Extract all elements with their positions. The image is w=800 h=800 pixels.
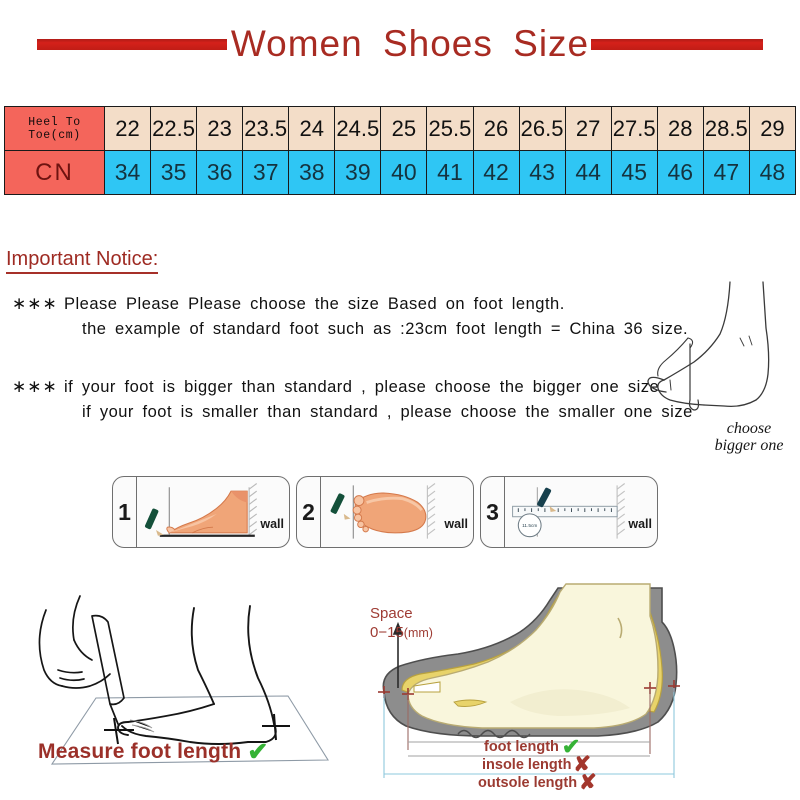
caption-line-2: bigger one — [694, 437, 800, 454]
space-gap-label: Space 0−15(mm) — [370, 604, 433, 643]
table-row: Heel To Toe(cm) 22 22.5 23 23.5 24 24.5 … — [5, 107, 796, 151]
space-value: 0−15 — [370, 624, 404, 641]
table-cell: 48 — [749, 151, 795, 195]
step-number: 3 — [481, 477, 505, 547]
step-illustration-top-foot: wall — [321, 477, 473, 547]
step-number: 2 — [297, 477, 321, 547]
foot-side-view-sketch-icon — [644, 276, 796, 426]
measurement-steps: 1 — [112, 476, 658, 548]
title-rule-right — [591, 39, 763, 50]
shoe-length-labels: foot length ✔ insole length ✘ outsole le… — [478, 738, 778, 792]
table-cell: 25.5 — [427, 107, 473, 151]
step-box-2: 2 — [296, 476, 474, 548]
length-label-row: insole length ✘ — [478, 756, 778, 774]
notice-text: if your foot is smaller than standard , … — [64, 400, 693, 425]
notice-block-1: ∗∗∗ Please Please Please choose the size… — [12, 292, 688, 342]
table-cell: 25 — [381, 107, 427, 151]
length-label-text: insole length — [482, 757, 571, 773]
table-cell: 23.5 — [243, 107, 289, 151]
notice-row: ∗∗∗ if your foot is bigger than standard… — [12, 375, 693, 400]
size-chart-table: Heel To Toe(cm) 22 22.5 23 23.5 24 24.5 … — [4, 106, 796, 195]
space-unit: (mm) — [404, 626, 433, 640]
table-cell: 28 — [657, 107, 703, 151]
space-label-line-2: 0−15(mm) — [370, 623, 433, 643]
check-icon: ✔ — [247, 742, 268, 762]
caption-line-1: choose — [694, 420, 800, 437]
table-cell: 37 — [243, 151, 289, 195]
wall-label: wall — [444, 517, 468, 531]
table-cell: 36 — [197, 151, 243, 195]
step-box-1: 1 — [112, 476, 290, 548]
wall-label: wall — [260, 517, 284, 531]
cross-icon: ✘ — [579, 775, 597, 791]
page-title-bar: Women Shoes Size — [0, 18, 800, 70]
table-cell: 35 — [151, 151, 197, 195]
measure-foot-length-caption: Measure foot length ✔ — [38, 740, 268, 764]
magnifier-reading: 11.5cm — [522, 523, 537, 529]
table-cell: 44 — [565, 151, 611, 195]
table-cell: 46 — [657, 151, 703, 195]
asterisk-marker-icon: ∗∗∗ — [12, 375, 64, 399]
length-label-text: outsole length — [478, 775, 577, 791]
step-box-3: 3 — [480, 476, 658, 548]
table-cell: 22.5 — [151, 107, 197, 151]
notice-block-2: ∗∗∗ if your foot is bigger than standard… — [12, 375, 693, 425]
choose-bigger-one-caption: choose bigger one — [694, 420, 800, 454]
notice-row: if your foot is smaller than standard , … — [12, 400, 693, 425]
table-cell: 41 — [427, 151, 473, 195]
table-cell: 47 — [703, 151, 749, 195]
wall-label: wall — [628, 517, 652, 531]
table-cell: 26.5 — [519, 107, 565, 151]
table-cell: 45 — [611, 151, 657, 195]
asterisk-marker-icon: ∗∗∗ — [12, 292, 64, 316]
length-label-row: foot length ✔ — [478, 738, 778, 756]
table-cell: 28.5 — [703, 107, 749, 151]
table-cell: 23 — [197, 107, 243, 151]
table-cell: 27 — [565, 107, 611, 151]
important-notice-heading: Important Notice: — [6, 248, 158, 274]
step-illustration-ruler: 11.5cm wall — [505, 477, 657, 547]
table-cell: 34 — [105, 151, 151, 195]
step-number: 1 — [113, 477, 137, 547]
table-cell: 26 — [473, 107, 519, 151]
table-cell: 38 — [289, 151, 335, 195]
notice-text: Please Please Please choose the size Bas… — [64, 292, 565, 317]
measure-caption-text: Measure foot length — [38, 740, 241, 764]
page-title: Women Shoes Size — [231, 25, 589, 63]
notice-text: if your foot is bigger than standard , p… — [64, 375, 659, 400]
table-cell: 24.5 — [335, 107, 381, 151]
title-rule-left — [37, 39, 227, 50]
step-illustration-side-foot: wall — [137, 477, 289, 547]
table-row: CN 34 35 36 37 38 39 40 41 42 43 44 45 4… — [5, 151, 796, 195]
table-cell: 27.5 — [611, 107, 657, 151]
table-cell: 42 — [473, 151, 519, 195]
row-header-cn: CN — [5, 151, 105, 195]
table-cell: 39 — [335, 151, 381, 195]
space-label-line-1: Space — [370, 604, 433, 623]
row-header-heel-to-toe: Heel To Toe(cm) — [5, 107, 105, 151]
table-cell: 24 — [289, 107, 335, 151]
length-label-text: foot length — [484, 739, 559, 755]
table-cell: 29 — [749, 107, 795, 151]
notice-row: ∗∗∗ Please Please Please choose the size… — [12, 292, 688, 317]
notice-row: the example of standard foot such as :23… — [12, 317, 688, 342]
notice-text: the example of standard foot such as :23… — [64, 317, 688, 342]
table-cell: 40 — [381, 151, 427, 195]
table-cell: 22 — [105, 107, 151, 151]
length-label-row: outsole length ✘ — [478, 774, 778, 792]
table-cell: 43 — [519, 151, 565, 195]
